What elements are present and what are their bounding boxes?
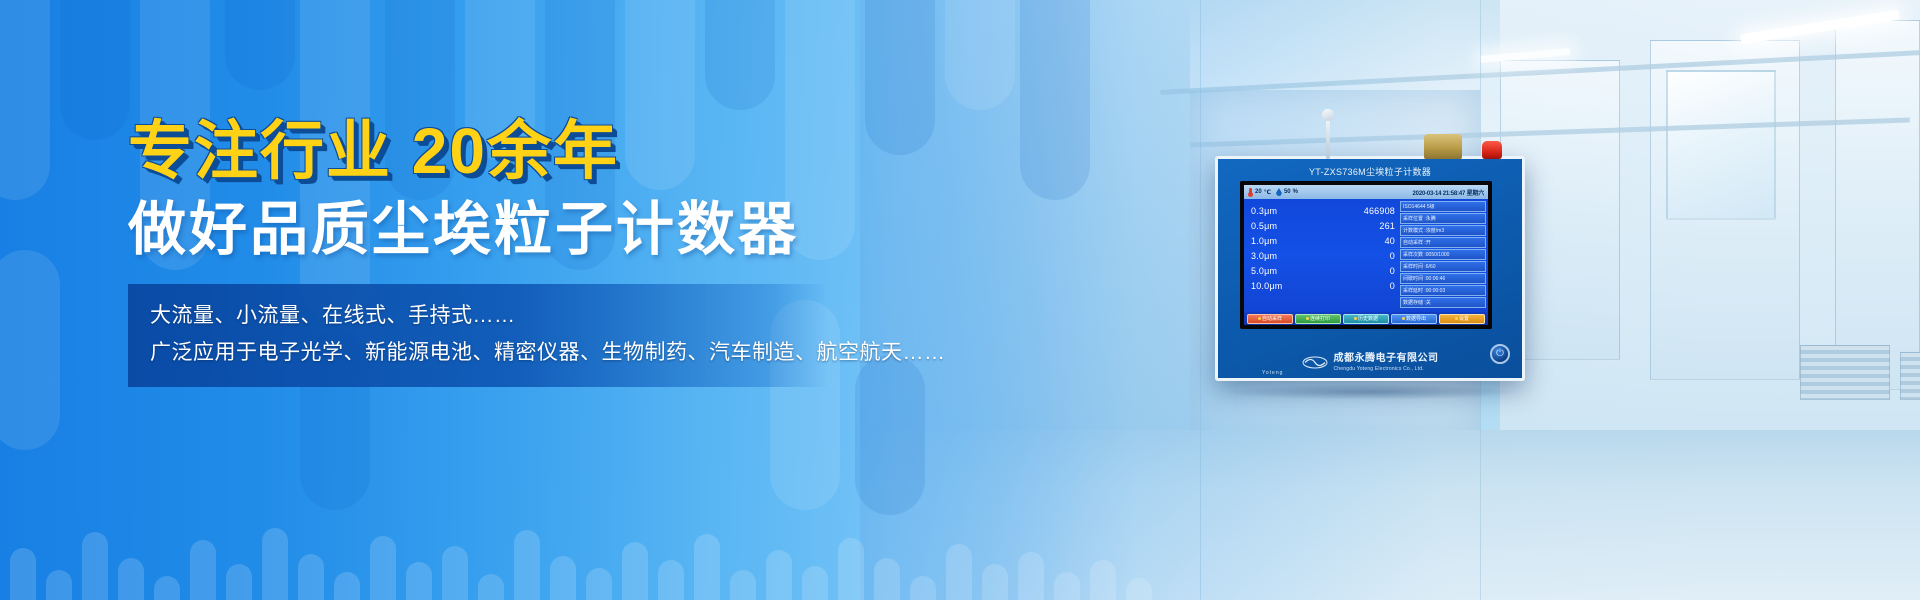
button-history-data[interactable]: 历史数据 (1343, 314, 1389, 324)
brass-inlet-icon (1424, 134, 1462, 159)
brand-name-cn: 成都永腾电子有限公司 (1334, 353, 1439, 366)
power-button[interactable]: ⏻ (1490, 344, 1510, 364)
decorative-equalizer-strip (0, 480, 1160, 600)
thermometer-icon (1248, 188, 1253, 197)
table-row: 0.5μm 261 (1251, 218, 1395, 233)
particle-count: 0 (1390, 266, 1395, 276)
table-row: 10.0μm 0 (1251, 278, 1395, 293)
particle-count: 466908 (1364, 206, 1395, 216)
info-row: 采样位置 :永腾 (1400, 213, 1486, 224)
particle-size: 3.0μm (1251, 251, 1277, 261)
humidity-unit: % (1293, 189, 1298, 195)
particle-size: 10.0μm (1251, 281, 1282, 291)
button-settings[interactable]: 设置 (1439, 314, 1485, 324)
status-dot-icon (1354, 317, 1357, 320)
table-row: 3.0μm 0 (1251, 248, 1395, 263)
datetime-readout: 2020-03-14 21:58:47 星期六 (1413, 188, 1484, 197)
strap-line-1: 大流量、小流量、在线式、手持式…… (150, 298, 806, 335)
particle-counter-device: YT-ZXS736M尘埃粒子计数器 20 ℃ 50 % 2020-03-14 2… (1215, 156, 1525, 381)
brand-text: 成都永腾电子有限公司 Chengdu Yoteng Electronics Co… (1334, 353, 1439, 372)
button-continuous-print[interactable]: 连续打印 (1295, 314, 1341, 324)
table-row: 0.3μm 466908 (1251, 203, 1395, 218)
info-row: 采样延时 :00:00:03 (1400, 285, 1486, 296)
particle-count-table: 0.3μm 466908 0.5μm 261 1.0μm 40 3.0μm (1244, 199, 1400, 312)
particle-count: 0 (1390, 251, 1395, 261)
info-row: 自动采样 :开 (1400, 237, 1486, 248)
power-icon: ⏻ (1496, 349, 1504, 359)
banner-root: 专注行业 20余年 做好品质尘埃粒子计数器 大流量、小流量、在线式、手持式…… … (0, 0, 1920, 600)
yoteng-logo-icon (1302, 356, 1328, 369)
particle-count: 40 (1385, 236, 1395, 246)
antenna-rod-icon (1326, 115, 1330, 159)
subheadline: 做好品质尘埃粒子计数器 (128, 199, 888, 262)
info-row: 采样次数 :0050/1000 (1400, 249, 1486, 260)
button-label: 自动采样 (1262, 315, 1282, 322)
feature-strap: 大流量、小流量、在线式、手持式…… 广泛应用于电子光学、新能源电池、精密仪器、生… (128, 284, 828, 388)
settings-info-panel: ISO14644 5级 采样位置 :永腾 计数模式 :浓度/m3 自动采样 :开… (1400, 199, 1488, 312)
info-row: 间歇时间 :00:06:46 (1400, 273, 1486, 284)
screen-body: 0.3μm 466908 0.5μm 261 1.0μm 40 3.0μm (1244, 199, 1488, 312)
button-label: 设置 (1459, 315, 1469, 322)
temperature-readout: 20 ℃ (1248, 188, 1271, 197)
headline: 专注行业 20余年 (128, 118, 888, 185)
particle-size: 0.3μm (1251, 206, 1277, 216)
table-row: 1.0μm 40 (1251, 233, 1395, 248)
status-dot-icon (1258, 317, 1261, 320)
screen-button-bar: 自动采样 连续打印 历史数据 数据导出 (1244, 312, 1488, 325)
button-data-export[interactable]: 数据导出 (1391, 314, 1437, 324)
info-row: ISO14644 5级 (1400, 201, 1486, 212)
button-label: 连续打印 (1310, 315, 1330, 322)
device-model-title: YT-ZXS736M尘埃粒子计数器 (1218, 165, 1522, 178)
button-auto-sample[interactable]: 自动采样 (1247, 314, 1293, 324)
device-screen[interactable]: 20 ℃ 50 % 2020-03-14 21:58:47 星期六 0.3μm (1244, 185, 1488, 325)
table-row: 5.0μm 0 (1251, 263, 1395, 278)
brand-name-en: Chengdu Yoteng Electronics Co., Ltd. (1334, 366, 1439, 372)
humidity-readout: 50 % (1276, 188, 1298, 196)
marketing-copy: 专注行业 20余年 做好品质尘埃粒子计数器 大流量、小流量、在线式、手持式…… … (128, 118, 888, 387)
brand-mark-text: Yoteng (1262, 370, 1283, 376)
status-dot-icon (1455, 317, 1458, 320)
device-shadow (1225, 384, 1517, 400)
particle-count: 261 (1379, 221, 1395, 231)
info-row: 数据存储 :关 (1400, 297, 1486, 308)
status-dot-icon (1402, 317, 1405, 320)
info-row: 计数模式 :浓度/m3 (1400, 225, 1486, 236)
antenna-tip-icon (1322, 109, 1334, 121)
temperature-unit: ℃ (1264, 189, 1271, 196)
humidity-value: 50 (1284, 189, 1291, 195)
screen-status-bar: 20 ℃ 50 % 2020-03-14 21:58:47 星期六 (1244, 185, 1488, 199)
red-indicator-lamp-icon (1482, 141, 1502, 159)
strap-line-2: 广泛应用于电子光学、新能源电池、精密仪器、生物制药、汽车制造、航空航天…… (150, 335, 806, 372)
button-label: 历史数据 (1358, 315, 1378, 322)
particle-count: 0 (1390, 281, 1395, 291)
particle-size: 5.0μm (1251, 266, 1277, 276)
particle-size: 0.5μm (1251, 221, 1277, 231)
temperature-value: 20 (1255, 189, 1262, 195)
water-drop-icon (1276, 188, 1282, 196)
button-label: 数据导出 (1406, 315, 1426, 322)
particle-size: 1.0μm (1251, 236, 1277, 246)
info-row: 采样时间 :6/60 (1400, 261, 1486, 272)
status-dot-icon (1306, 317, 1309, 320)
device-screen-bezel: 20 ℃ 50 % 2020-03-14 21:58:47 星期六 0.3μm (1240, 181, 1492, 329)
